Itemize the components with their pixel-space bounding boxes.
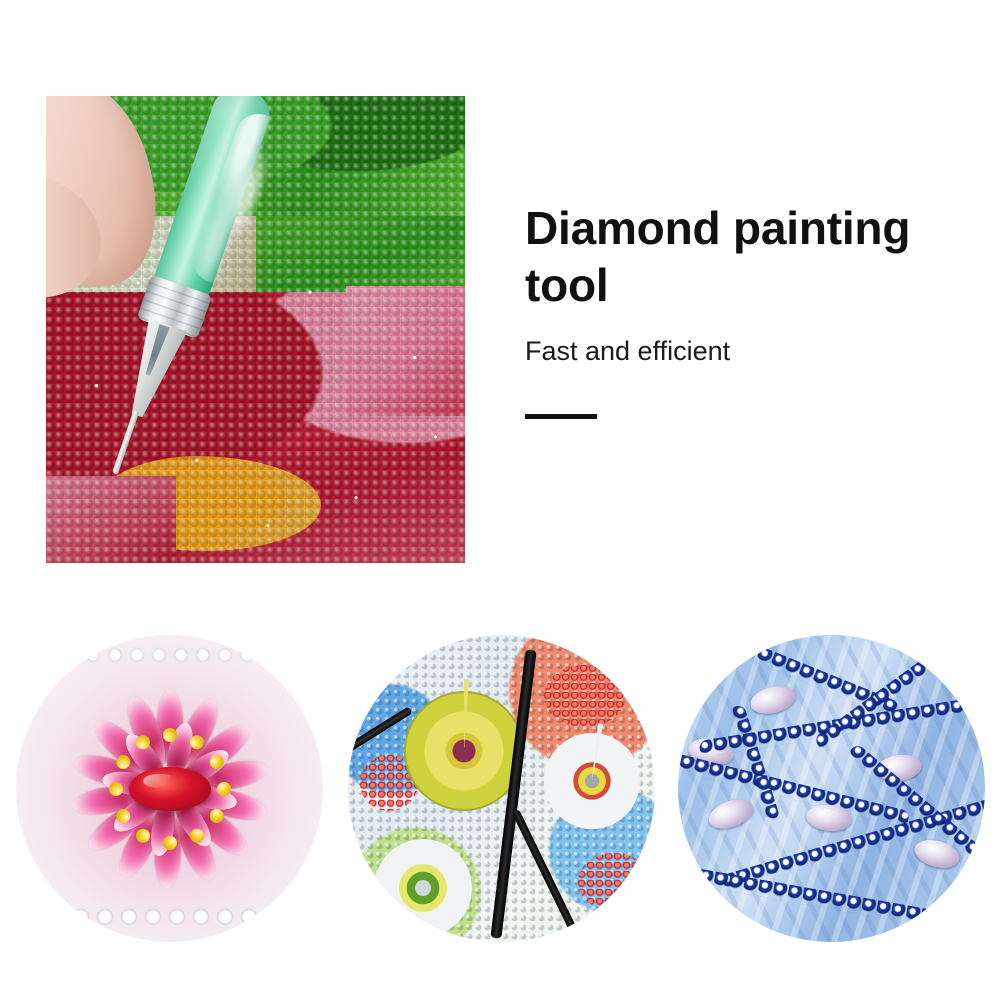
red-bead-cluster [578, 853, 650, 911]
page-title: Diamond painting tool [525, 200, 965, 313]
yellow-sunflower-motif [404, 691, 524, 811]
sample-gallery [0, 635, 1001, 942]
copy-block: Diamond painting tool Fast and efficient [525, 200, 965, 419]
floral-mandala-thumb [348, 635, 655, 942]
pen-cone-tip [115, 317, 190, 423]
blue-starry-night-thumb [678, 635, 985, 942]
red-center-gem [129, 767, 211, 811]
gallery-item-pink-flower[interactable] [16, 635, 323, 942]
yellow-accent-bead [163, 836, 177, 850]
title-divider [525, 414, 597, 419]
clear-bead-row-bottom [45, 908, 295, 930]
page-subtitle: Fast and efficient [525, 335, 965, 367]
hero-photo [46, 96, 465, 563]
product-feature-banner: Diamond painting tool Fast and efficient [0, 0, 1001, 1001]
white-flower-motif [544, 733, 640, 829]
pink-rhinestone-flower-thumb [16, 635, 323, 942]
green-flower-motif [374, 839, 472, 937]
yellow-accent-bead [163, 728, 177, 742]
gallery-item-starry-night[interactable] [678, 635, 985, 942]
yellow-accent-bead [217, 782, 231, 796]
gallery-item-floral-mandala[interactable] [348, 635, 655, 942]
clear-bead-row-top [60, 643, 280, 663]
red-bead-cluster [544, 665, 626, 727]
yellow-accent-bead [109, 782, 123, 796]
